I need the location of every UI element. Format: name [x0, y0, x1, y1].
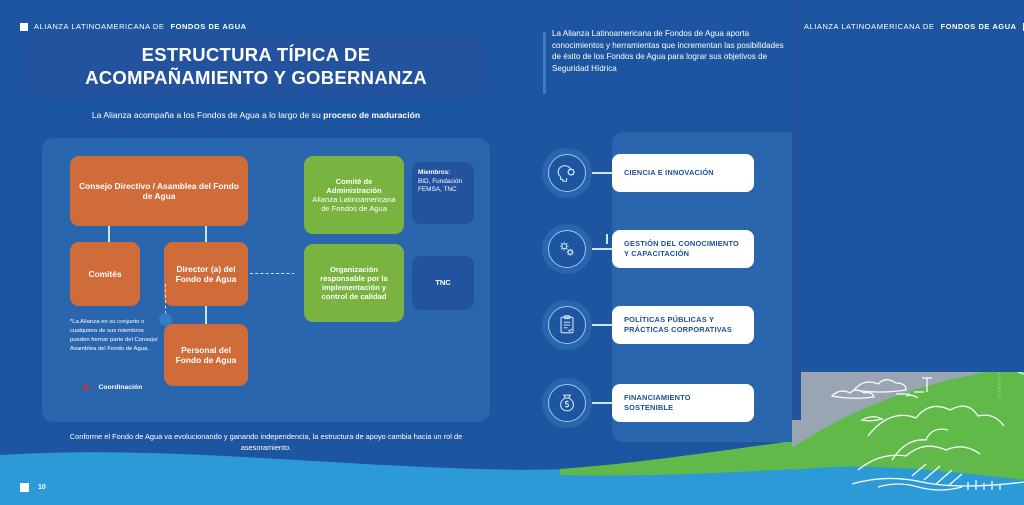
- brand-bold: FONDOS DE AGUA: [940, 22, 1016, 31]
- miembros-value: BID, Fundación FEMSA, TNC: [418, 178, 462, 194]
- legend-marker-icon: [78, 385, 94, 390]
- node-comite-administracion-sub: Alianza Latinoamericana de Fondos de Agu…: [310, 195, 398, 214]
- right-page: ALIANZA ALIANZA LATINOAMERICANA DE FONDO…: [792, 0, 1024, 505]
- connector-director-personal: [205, 306, 207, 324]
- brand-prefix: ALIANZA LATINOAMERICANA DE: [34, 22, 164, 31]
- subtitle: La Alianza acompaña a los Fondos de Agua…: [27, 110, 485, 120]
- pillar-connector-line: [592, 172, 612, 174]
- head-gear-icon-halo: [542, 148, 592, 198]
- brand-square-icon: [20, 23, 28, 31]
- brand-bold: FONDOS DE AGUA: [170, 22, 246, 31]
- left-page: ALIANZA LATINOAMERICANA DE FONDOS DE AGU…: [0, 0, 792, 505]
- org-diagram-panel: Consejo Directivo / Asamblea del Fondo d…: [42, 138, 490, 422]
- pillar-card-financiamiento[interactable]: FINANCIAMIENTO SOSTENIBLE: [612, 384, 754, 422]
- node-organizacion-responsable[interactable]: Organización responsable por la implemen…: [304, 244, 404, 322]
- miembros-label: Miembros:: [418, 169, 450, 176]
- pillar-connector-line: [592, 324, 612, 326]
- brand-header-right: ALIANZA LATINOAMERICANA DE FONDOS DE AGU…: [804, 22, 1024, 31]
- gears-icon: [548, 230, 586, 268]
- evolution-endpoint-dot-icon: [159, 313, 172, 326]
- node-comite-administracion[interactable]: Comité de Administración Alianza Latinoa…: [304, 156, 404, 234]
- pillar-card-politicas[interactable]: POLÍTICAS PÚBLICAS Y PRÁCTICAS CORPORATI…: [612, 306, 754, 344]
- page-number-square-icon: [20, 483, 29, 492]
- title-line-2: ACOMPAÑAMIENTO Y GOBERNANZA: [85, 67, 427, 88]
- connector-consejo-director: [205, 226, 207, 242]
- pillar-row-politicas[interactable]: POLÍTICAS PÚBLICAS Y PRÁCTICAS CORPORATI…: [542, 300, 754, 350]
- money-bag-icon: [548, 384, 586, 422]
- legend-label: Coordinación: [99, 384, 143, 391]
- page-title: ESTRUCTURA TÍPICA DE ACOMPAÑAMIENTO Y GO…: [85, 44, 427, 89]
- diagram-footnote: *La Alianza en su conjunto o cualquiera …: [70, 318, 162, 353]
- pillar-connector-line: [592, 402, 612, 404]
- alliance-subpanel: Comité de Administración Alianza Latinoa…: [294, 144, 484, 372]
- node-director-fondo-agua[interactable]: Director (a) del Fondo de Agua: [164, 242, 248, 306]
- page-number-value: 10: [38, 484, 46, 491]
- document-icon-halo: [542, 300, 592, 350]
- bottom-caption: Conforme el Fondo de Agua va evolucionan…: [50, 432, 482, 453]
- evolution-dashed-line: [165, 284, 166, 314]
- connector-consejo-comites: [108, 226, 110, 242]
- gears-icon-halo: [542, 224, 592, 274]
- subtitle-bold: proceso de maduración: [323, 110, 420, 120]
- title-banner: ESTRUCTURA TÍPICA DE ACOMPAÑAMIENTO Y GO…: [27, 36, 485, 98]
- node-consejo-directivo[interactable]: Consejo Directivo / Asamblea del Fondo d…: [70, 156, 248, 226]
- node-comite-administracion-title: Comité de Administración: [310, 177, 398, 196]
- pillar-card-gestion[interactable]: GESTIÓN DEL CONOCIMIENTO Y CAPACITACIÓN: [612, 230, 754, 268]
- money-bag-icon-halo: [542, 378, 592, 428]
- subtitle-normal: La Alianza acompaña a los Fondos de Agua…: [92, 110, 323, 120]
- pillar-connector-line: [592, 248, 612, 250]
- pillar-row-gestion[interactable]: GESTIÓN DEL CONOCIMIENTO Y CAPACITACIÓN: [542, 224, 754, 274]
- photo-watermark: ALIANZA: [997, 372, 1002, 398]
- page-number: 10: [20, 483, 46, 492]
- pillar-row-ciencia[interactable]: CIENCIA E INNOVACIÓN: [542, 148, 754, 198]
- node-miembros[interactable]: Miembros: BID, Fundación FEMSA, TNC: [412, 162, 474, 224]
- intro-accent-bar: [543, 32, 546, 94]
- pillar-row-financiamiento[interactable]: FINANCIAMIENTO SOSTENIBLE: [542, 378, 754, 428]
- pillar-card-ciencia[interactable]: CIENCIA E INNOVACIÓN: [612, 154, 754, 192]
- head-gear-icon: [548, 154, 586, 192]
- intro-paragraph: La Alianza Latinoamericana de Fondos de …: [552, 28, 790, 75]
- node-tnc[interactable]: TNC: [412, 256, 474, 310]
- brand-header-left: ALIANZA LATINOAMERICANA DE FONDOS DE AGU…: [20, 22, 247, 31]
- brand-prefix: ALIANZA LATINOAMERICANA DE: [804, 22, 934, 31]
- legend-coordinacion: Coordinación: [78, 384, 142, 391]
- document-icon: [548, 306, 586, 344]
- right-page-ribbon: [792, 0, 801, 420]
- title-line-1: ESTRUCTURA TÍPICA DE: [142, 44, 371, 65]
- right-page-blue-header: [792, 0, 1024, 372]
- coordination-dashed-line: [250, 273, 300, 274]
- node-comites[interactable]: Comités: [70, 242, 140, 306]
- node-personal-fondo-agua[interactable]: Personal del Fondo de Agua: [164, 324, 248, 386]
